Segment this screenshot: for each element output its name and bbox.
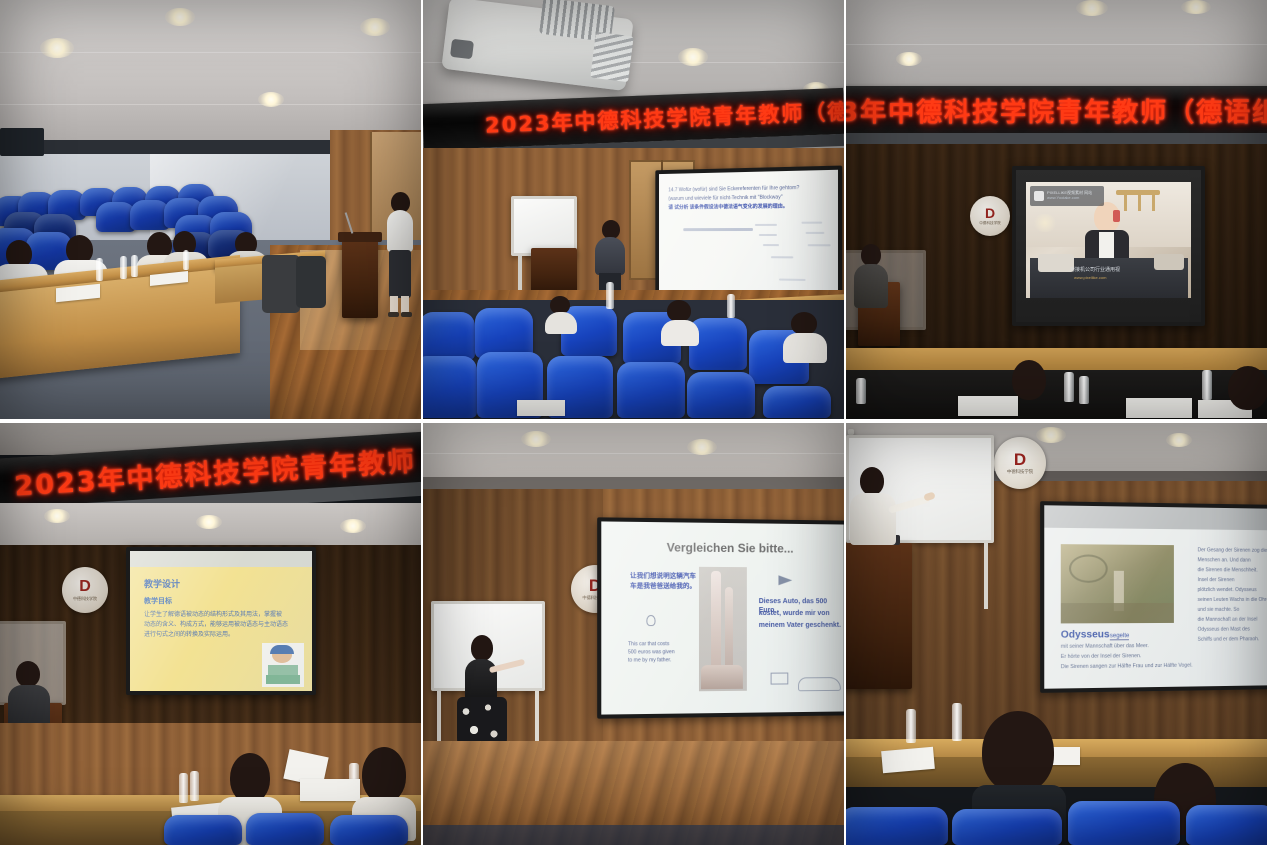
slide-illustration (262, 643, 304, 687)
ceiling-light (1166, 433, 1192, 447)
water-bottle (727, 294, 735, 318)
slide-right-8: die Mannschaft an der Insel (1198, 617, 1267, 624)
audience-member (661, 300, 697, 344)
slide-right-3: die Sirenen die Menschheit. (1198, 567, 1267, 574)
slide-right-4: Insel der Sirenen (1198, 577, 1267, 584)
water-bottle (906, 709, 916, 743)
led-banner: 3年中德科技学院青年教师（德语组）教 (846, 86, 1267, 134)
slide-line-1: 14.7 Wofür (wofür) sind Sie Eckereferent… (668, 184, 835, 194)
lectern (846, 543, 912, 689)
ceiling-light (165, 8, 195, 26)
auditorium-seat (423, 312, 475, 360)
college-logo: D 中德科技学院 (994, 437, 1046, 489)
ceiling-light (44, 509, 70, 523)
odysseus-illustration (1061, 544, 1174, 623)
panel-top-center: 2023年中德科技学院青年教师（德语组）教学 14.7 Wofür (wofür… (423, 0, 844, 419)
projection-screen: Odysseus segelte mit seiner Mannschaft ü… (1040, 501, 1267, 693)
water-bottle (190, 771, 199, 801)
ceiling-light (40, 38, 74, 58)
slide-right-10: Schiffs und er dem Pharaoh. (1198, 636, 1267, 643)
auditorium-seat (246, 813, 324, 845)
auditorium-seat (952, 809, 1062, 845)
slide-right-9: Odysseus den Mast des (1198, 626, 1267, 633)
logo-mark: D (985, 206, 995, 220)
slide-body-2: 动态的含义、构成方式，能够运用被动语态与主动语态 (144, 621, 296, 629)
logo-mark: D (1014, 451, 1026, 468)
panel-bottom-center: D 中德科技学院 Vergleichen Sie bitte... 让我们想说明… (423, 423, 844, 845)
ceiling-light (521, 431, 551, 447)
water-bottle (952, 703, 962, 741)
projection-screen: 教学设计 教学目标 让学生了解德语被动态的结构形式及其用法，掌握被 动态的含义、… (126, 547, 316, 695)
slide-right-7: und sie machte. So (1198, 607, 1267, 614)
slide-title: Vergleichen Sie bitte... (667, 540, 794, 555)
car-icon (798, 677, 841, 691)
panel-top-right: 3年中德科技学院青年教师（德语组）教 (846, 0, 1267, 419)
auditorium-seat (1068, 801, 1180, 845)
auditorium-seat (1186, 805, 1267, 845)
seated-judge (1006, 360, 1052, 419)
auditorium-seat (687, 372, 755, 418)
teacher-presenter (850, 467, 922, 561)
slide-cn-2: 车是我爸爸送给我的。 (630, 583, 696, 592)
water-bottle (183, 250, 189, 270)
ceiling-light (1181, 0, 1211, 14)
watermark-line-2: www.Yooiake.com (1047, 196, 1092, 201)
college-logo: D 中德科技学院 (62, 567, 108, 613)
projection-screen: 对接机公司行业通用视 www.pixellike.com PIXELLIKE视频… (1012, 166, 1205, 326)
video-caption: 对接机公司行业通用视 (1070, 268, 1120, 274)
ceiling-light (196, 515, 222, 529)
photo-collage: 2023年中德科技学院青年教师（德语组）教学 14.7 Wofür (wofür… (0, 0, 1267, 845)
ceiling-light (258, 92, 284, 107)
watermark-logo-icon (1034, 191, 1044, 201)
whiteboard (511, 196, 577, 256)
slide-body-3: 进行句式之间的转换及实际运用。 (144, 631, 296, 639)
ceiling-light (678, 48, 708, 66)
vergleichen-slide: Vergleichen Sie bitte... 让我们想说明这辆汽车 车是我爸… (601, 521, 843, 714)
video-caption-url: www.pixellike.com (1074, 276, 1106, 281)
ceiling-light (1076, 0, 1108, 16)
slide-right-5: plötzlich wendet. Odysseus (1198, 587, 1267, 594)
water-bottle (856, 378, 866, 404)
projection-screen: Vergleichen Sie bitte... 让我们想说明这辆汽车 车是我爸… (597, 517, 844, 718)
video-frame: 对接机公司行业通用视 www.pixellike.com PIXELLIKE视频… (1016, 170, 1201, 322)
lightbulb-icon (646, 615, 655, 626)
judges-table (846, 348, 1267, 372)
slide-en-3: to me by my father. (628, 657, 671, 664)
slide-right-1: Der Gesang der Sirenen zog die (1198, 547, 1267, 554)
water-bottle (131, 255, 138, 277)
slide-right-6: seinen Leuten Wachs in die Ohren (1198, 597, 1267, 604)
slide-blank-answer: segelte (1110, 633, 1130, 640)
slide-subtitle: 教学目标 (144, 596, 172, 606)
panel-top-left (0, 0, 421, 419)
water-bottle (1079, 376, 1089, 404)
logo-name: 中德科技学院 (73, 597, 97, 601)
slide-de-2: kostet, wurde mir von (759, 609, 830, 618)
lectern (531, 248, 577, 294)
auditorium-seat (423, 356, 477, 418)
water-bottle (179, 773, 188, 803)
auditorium-seat (846, 807, 948, 845)
audience-member (783, 312, 823, 360)
slide-en-1: This car that costs (628, 641, 669, 648)
water-bottle (1064, 372, 1074, 402)
college-logo: D 中德科技学院 (970, 196, 1010, 236)
water-bottle (1202, 370, 1212, 400)
odysseus-slide: Odysseus segelte mit seiner Mannschaft ü… (1044, 505, 1267, 688)
logo-mark: D (79, 579, 91, 595)
slide-sub-2: Er hörte von der Insel der Sirenen. (1061, 653, 1212, 662)
lectern (342, 238, 378, 318)
paper-sheet (300, 779, 360, 801)
paper-sheet (1126, 398, 1192, 418)
video-watermark: PIXELLIKE视频素材 网站 www.Yooiake.com (1030, 186, 1104, 206)
auditorium-seat (763, 386, 831, 418)
ceiling-light (340, 519, 366, 533)
auditorium-seat (330, 815, 408, 845)
audience-member (545, 296, 575, 330)
paper-sheet (881, 747, 935, 773)
slide-cn-1: 让我们想说明这辆汽车 (630, 572, 696, 581)
water-bottle (606, 282, 614, 309)
ceiling-light (687, 439, 717, 455)
slide-sub-3: Die Sirenen sangen zur Hälfte Frau und z… (1061, 662, 1212, 671)
water-bottle (120, 256, 127, 279)
auditorium-seat (617, 362, 685, 418)
panel-bottom-left: 2023年中德科技学院青年教师（德语组 D 中德科技学院 教学设计 教学目标 让… (0, 423, 421, 845)
presenter (854, 244, 888, 342)
water-bottle (96, 258, 103, 281)
slide-heading: Odysseus (1061, 629, 1110, 640)
slide-line-2: (warum und wieviele für nicht-Technik mi… (668, 194, 835, 203)
lesson-design-slide: 教学设计 教学目标 让学生了解德语被动态的结构形式及其用法，掌握被 动态的含义、… (130, 551, 312, 691)
logo-name: 中德科技学院 (979, 222, 1001, 226)
auditorium-seat (164, 815, 242, 845)
slide-right-2: Menschen an. Und dann (1198, 557, 1267, 564)
envelope-icon (771, 673, 789, 685)
ceiling-light (896, 52, 922, 66)
slide-de-3: meinem Vater geschenkt. (759, 621, 841, 630)
projection-screen: 14.7 Wofür (wofür) sind Sie Eckereferent… (655, 166, 842, 307)
slide-title: 教学设计 (144, 577, 180, 590)
paper-plane-icon (778, 575, 792, 585)
slide-sub-1: mit seiner Mannschaft über das Meer. (1061, 643, 1212, 651)
logo-name: 中德科技学院 (1007, 470, 1033, 474)
slide-line-3: 请 试分析 该条件假设法中德法语气变化的发展的理由。 (668, 203, 835, 212)
seated-judge (1224, 366, 1267, 419)
presenter (385, 192, 415, 320)
slide-body-1: 让学生了解德语被动态的结构形式及其用法，掌握被 (144, 611, 296, 619)
panel-bottom-right: Odysseus segelte mit seiner Mannschaft ü… (846, 423, 1267, 845)
paper-sheet (517, 400, 565, 416)
ceiling-light (360, 18, 390, 36)
auditorium-seat (475, 308, 533, 358)
slide-en-2: 500 euros was given (628, 649, 675, 656)
